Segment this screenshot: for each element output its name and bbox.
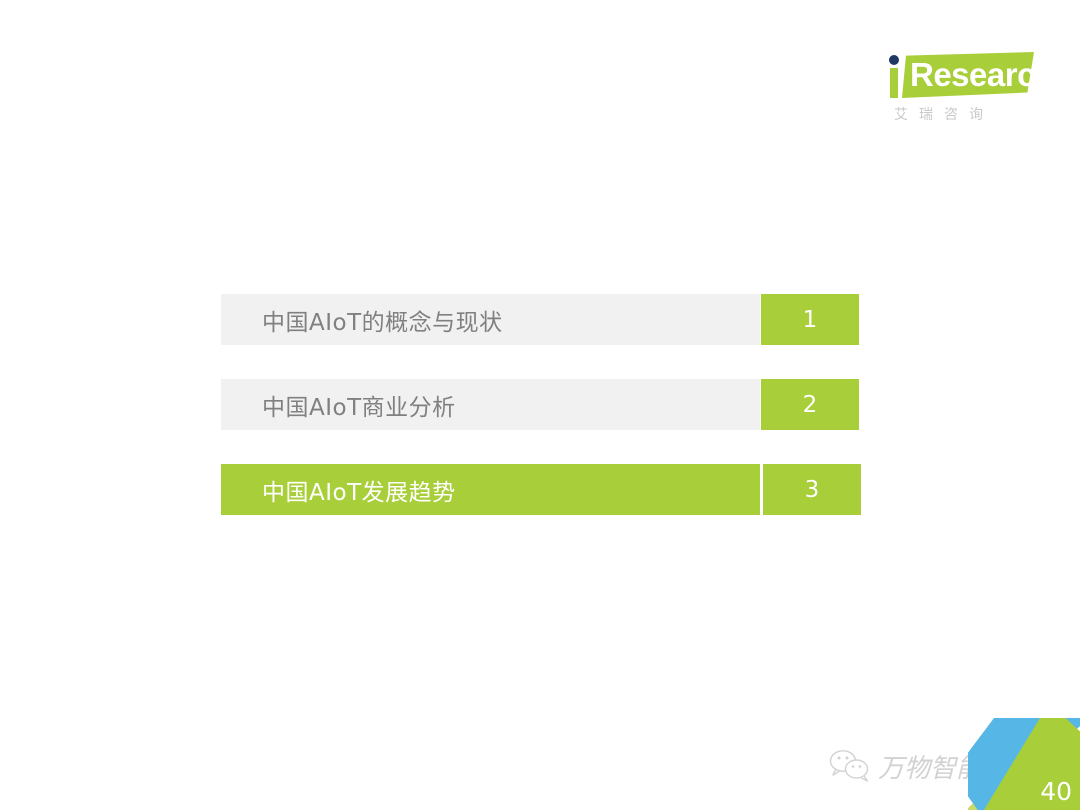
agenda-row[interactable]: 中国AIoT商业分析 2 — [221, 379, 859, 430]
page-number: 40 — [1040, 777, 1072, 806]
agenda-row-number: 1 — [803, 307, 818, 333]
agenda-row-active[interactable]: 中国AIoT发展趋势 3 — [221, 464, 859, 515]
agenda-row-title: 中国AIoT发展趋势 — [262, 473, 456, 507]
agenda-row-title: 中国AIoT商业分析 — [262, 388, 456, 422]
agenda-row-number-box[interactable]: 2 — [761, 379, 859, 430]
wechat-icon — [828, 748, 872, 784]
logo-subtitle: 艾瑞咨询 — [894, 104, 1034, 124]
agenda-row-title-box[interactable]: 中国AIoT的概念与现状 — [221, 294, 760, 345]
agenda-row-number-box[interactable]: 1 — [761, 294, 859, 345]
logo-wordmark: Research — [910, 54, 1055, 96]
agenda-row-title-box[interactable]: 中国AIoT商业分析 — [221, 379, 760, 430]
agenda-row-number-box[interactable]: 3 — [763, 464, 861, 515]
logo-mark: Research — [884, 52, 1034, 100]
iresearch-logo: Research 艾瑞咨询 — [884, 52, 1034, 128]
agenda-row-title: 中国AIoT的概念与现状 — [262, 303, 503, 337]
agenda-row-number: 3 — [805, 477, 820, 503]
agenda-row[interactable]: 中国AIoT的概念与现状 1 — [221, 294, 859, 345]
agenda-list: 中国AIoT的概念与现状 1 中国AIoT商业分析 2 中国AIoT发展趋势 3 — [221, 294, 859, 515]
agenda-row-title-box[interactable]: 中国AIoT发展趋势 — [221, 464, 760, 515]
agenda-row-number: 2 — [803, 392, 818, 418]
logo-letter-i-dot-icon — [889, 55, 899, 65]
logo-letter-i-stem — [890, 68, 898, 98]
